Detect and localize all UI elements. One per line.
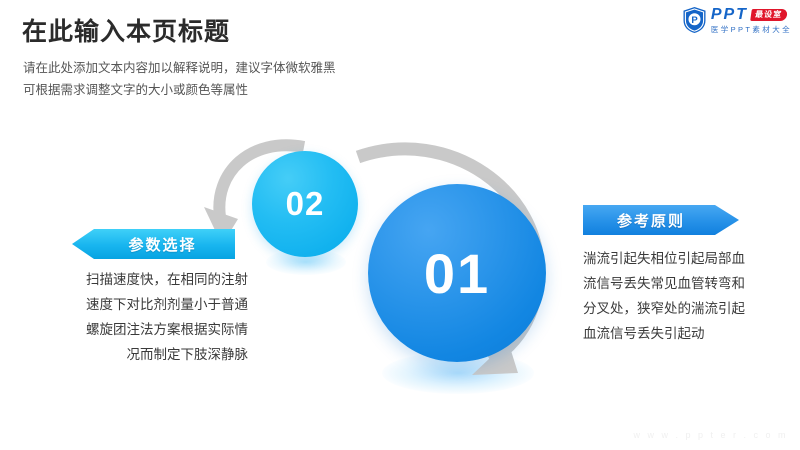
banner-left-label: 参数选择 bbox=[128, 234, 196, 255]
description-right-line-4: 血流信号丢失引起动 bbox=[583, 322, 783, 347]
subtitle-line-2: 可根据需求调整文字的大小或颜色等属性 bbox=[23, 80, 336, 102]
banner-right-label: 参考原则 bbox=[617, 210, 685, 231]
shield-icon: P bbox=[682, 6, 707, 34]
description-left-line-2: 速度下对比剂剂量小于普通 bbox=[30, 293, 248, 318]
banner-reference-principle[interactable]: 参考原则 bbox=[583, 205, 739, 235]
step-circle-02[interactable]: 02 bbox=[252, 151, 358, 257]
step-number-02: 02 bbox=[286, 185, 325, 223]
logo-wordmark: PPT bbox=[711, 7, 748, 23]
description-right: 湍流引起失相位引起局部血 流信号丢失常见血管转弯和 分叉处，狭窄处的湍流引起 血… bbox=[583, 247, 783, 347]
brand-logo[interactable]: P PPT 最设室 医学PPT素材大全 bbox=[682, 5, 792, 35]
logo-text-block: PPT 最设室 医学PPT素材大全 bbox=[711, 7, 792, 34]
step-number-01: 01 bbox=[424, 241, 490, 306]
logo-badge: 最设室 bbox=[750, 9, 788, 21]
description-left: 扫描速度快，在相同的注射 速度下对比剂剂量小于普通 螺旋团注法方案根据实际情 况… bbox=[30, 268, 248, 368]
description-right-line-3: 分叉处，狭窄处的湍流引起 bbox=[583, 297, 783, 322]
page-subtitle: 请在此处添加文本内容加以解释说明，建议字体微软雅黑 可根据需求调整文字的大小或颜… bbox=[23, 58, 336, 102]
page-title: 在此输入本页标题 bbox=[22, 18, 230, 47]
description-right-line-1: 湍流引起失相位引起局部血 bbox=[583, 247, 783, 272]
logo-tagline: 医学PPT素材大全 bbox=[711, 26, 792, 34]
subtitle-line-1: 请在此处添加文本内容加以解释说明，建议字体微软雅黑 bbox=[23, 58, 336, 80]
description-right-line-2: 流信号丢失常见血管转弯和 bbox=[583, 272, 783, 297]
svg-text:P: P bbox=[691, 15, 698, 26]
description-left-line-3: 螺旋团注法方案根据实际情 bbox=[30, 318, 248, 343]
description-left-line-1: 扫描速度快，在相同的注射 bbox=[30, 268, 248, 293]
site-watermark: w w w . p p t e r . c o m bbox=[633, 430, 788, 440]
description-left-line-4: 况而制定下肢深静脉 bbox=[30, 343, 248, 368]
banner-parameter-selection[interactable]: 参数选择 bbox=[72, 229, 235, 259]
logo-top-row: PPT 最设室 bbox=[711, 7, 792, 23]
step-circle-01[interactable]: 01 bbox=[368, 184, 546, 362]
